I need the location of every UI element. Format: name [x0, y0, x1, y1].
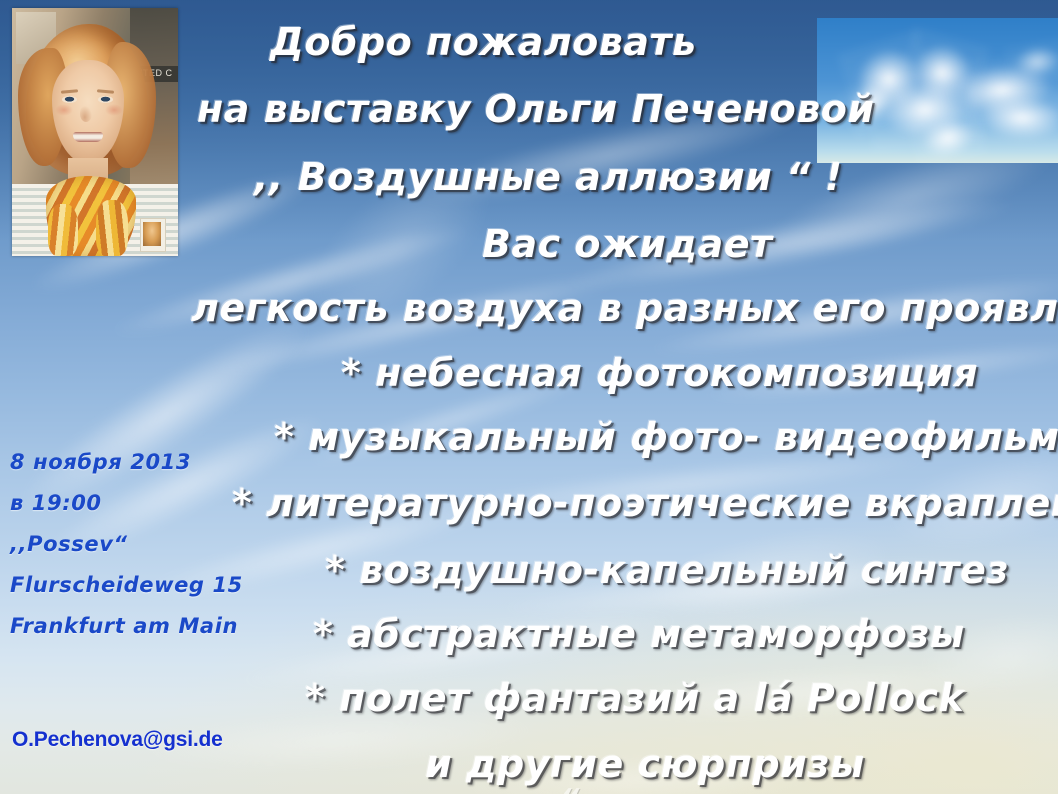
event-street: Flurscheideweg 15 [10, 575, 310, 596]
exhibition-invitation-poster: NTED C Добро пожаловать на выставку Ольг… [0, 0, 1058, 794]
event-time: в 19:00 [10, 493, 310, 514]
announcement-line-welcome: Добро пожаловать [270, 20, 697, 64]
portrait-eye-right [98, 96, 113, 103]
portrait-mouth [73, 132, 103, 142]
portrait-name-badge-photo [143, 222, 161, 246]
announcement-bullet-synthesis: * воздушно-капельный синтез [325, 548, 1009, 592]
event-venue-name: ,,Possev“ [10, 534, 310, 555]
announcement-line-title: ,, Воздушные аллюзии “ ! [254, 155, 843, 199]
event-date: 8 ноября 2013 [10, 452, 310, 473]
portrait-eye-left [62, 96, 77, 103]
portrait-nose [80, 106, 92, 122]
announcement-bullet-pollock: * полет фантазий a lá Pollock [305, 676, 964, 720]
announcement-line-awaits: Вас ожидает [482, 222, 773, 266]
contact-email-link[interactable]: O.Pechenova@gsi.de [12, 728, 223, 752]
portrait-cheek-right [105, 104, 123, 116]
portrait-scarf-tail-left [48, 204, 78, 256]
event-details-block: 8 ноября 2013 в 19:00 ,,Possev“ Flursche… [10, 452, 310, 657]
announcement-bullet-metamorph: * абстрактные метаморфозы [313, 612, 965, 656]
announcement-bullet-photo: * небесная фотокомпозиция [341, 351, 978, 395]
announcement-bullet-videofilm: * музыкальный фото- видеофильм [274, 415, 1058, 459]
announcement-cutoff-glyph: “ [560, 783, 579, 794]
portrait-scarf-tail-right [96, 200, 128, 256]
artist-portrait-photo: NTED C [12, 8, 178, 256]
announcement-line-surprises: и другие сюрпризы [425, 742, 865, 786]
event-city: Frankfurt am Main [10, 616, 310, 637]
announcement-bullet-literary: * литературно-поэтические вкрапления [232, 481, 1058, 525]
announcement-line-exhibition: на выставку Ольги Печеновой [197, 87, 875, 131]
portrait-cheek-left [55, 104, 73, 116]
announcement-line-lightness: легкость воздуха в разных его проявления… [191, 286, 1058, 330]
